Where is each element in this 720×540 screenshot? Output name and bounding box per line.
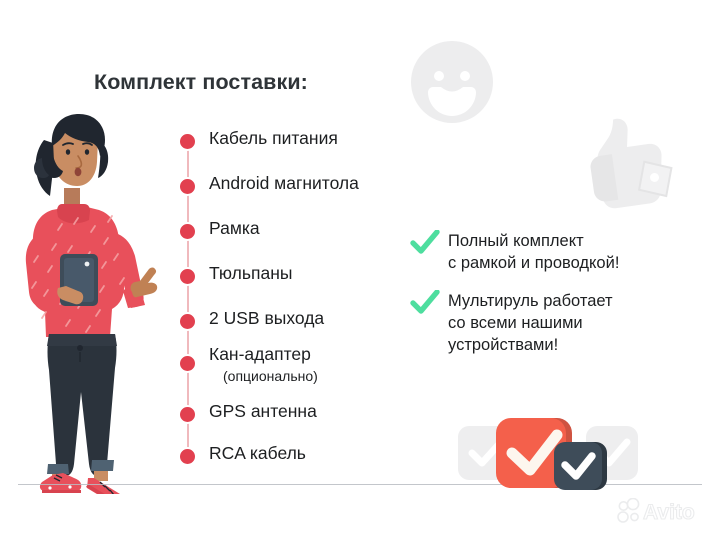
avito-watermark: Avito [617, 498, 709, 524]
list-item-label: Тюльпаны [209, 262, 292, 286]
bullet-dot-icon [180, 449, 195, 464]
bullet-dot-icon [180, 179, 195, 194]
page-title: Комплект поставки: [94, 70, 308, 95]
benefit-item: Мультируль работает со всеми нашими устр… [410, 290, 700, 356]
benefits-list: Полный комплект с рамкой и проводкой! Му… [410, 230, 700, 373]
avito-wordmark: Avito [643, 501, 695, 524]
smiley-face-icon [408, 38, 496, 126]
bullet-dot-icon [180, 224, 195, 239]
list-item-label: GPS антенна [209, 400, 317, 424]
checkbox-cards-icon [458, 404, 638, 496]
list-item-label: Рамка [209, 217, 260, 241]
list-item-label: Android магнитола [209, 172, 359, 196]
bullet-dot-icon [180, 269, 195, 284]
bullet-dot-icon [180, 314, 195, 329]
list-item-label-main: Кан-адаптер [209, 344, 311, 364]
list-item-label: RCA кабель [209, 442, 306, 466]
thumbs-up-icon [578, 112, 678, 210]
list-item-label: Кабель питания [209, 127, 338, 151]
benefit-label: Мультируль работает со всеми нашими устр… [448, 292, 613, 354]
list-item-label: Кан-адаптер (опционально) [209, 343, 318, 384]
list-item-label: 2 USB выхода [209, 307, 324, 331]
list-item-sublabel: (опционально) [209, 368, 318, 385]
komplekt-postavki-list: Кабель питания Android магнитола Рамка Т… [178, 130, 408, 460]
woman-with-tablet-illustration [8, 112, 176, 494]
check-icon [410, 230, 440, 256]
bullet-dot-icon [180, 134, 195, 149]
ground-line [18, 484, 702, 485]
benefit-item: Полный комплект с рамкой и проводкой! [410, 230, 700, 274]
bullet-dot-icon [180, 356, 195, 371]
poster-canvas: Комплект поставки: Кабель питания Androi… [0, 0, 720, 540]
check-icon [410, 290, 440, 316]
bullet-dot-icon [180, 407, 195, 422]
benefit-label: Полный комплект с рамкой и проводкой! [448, 232, 619, 272]
